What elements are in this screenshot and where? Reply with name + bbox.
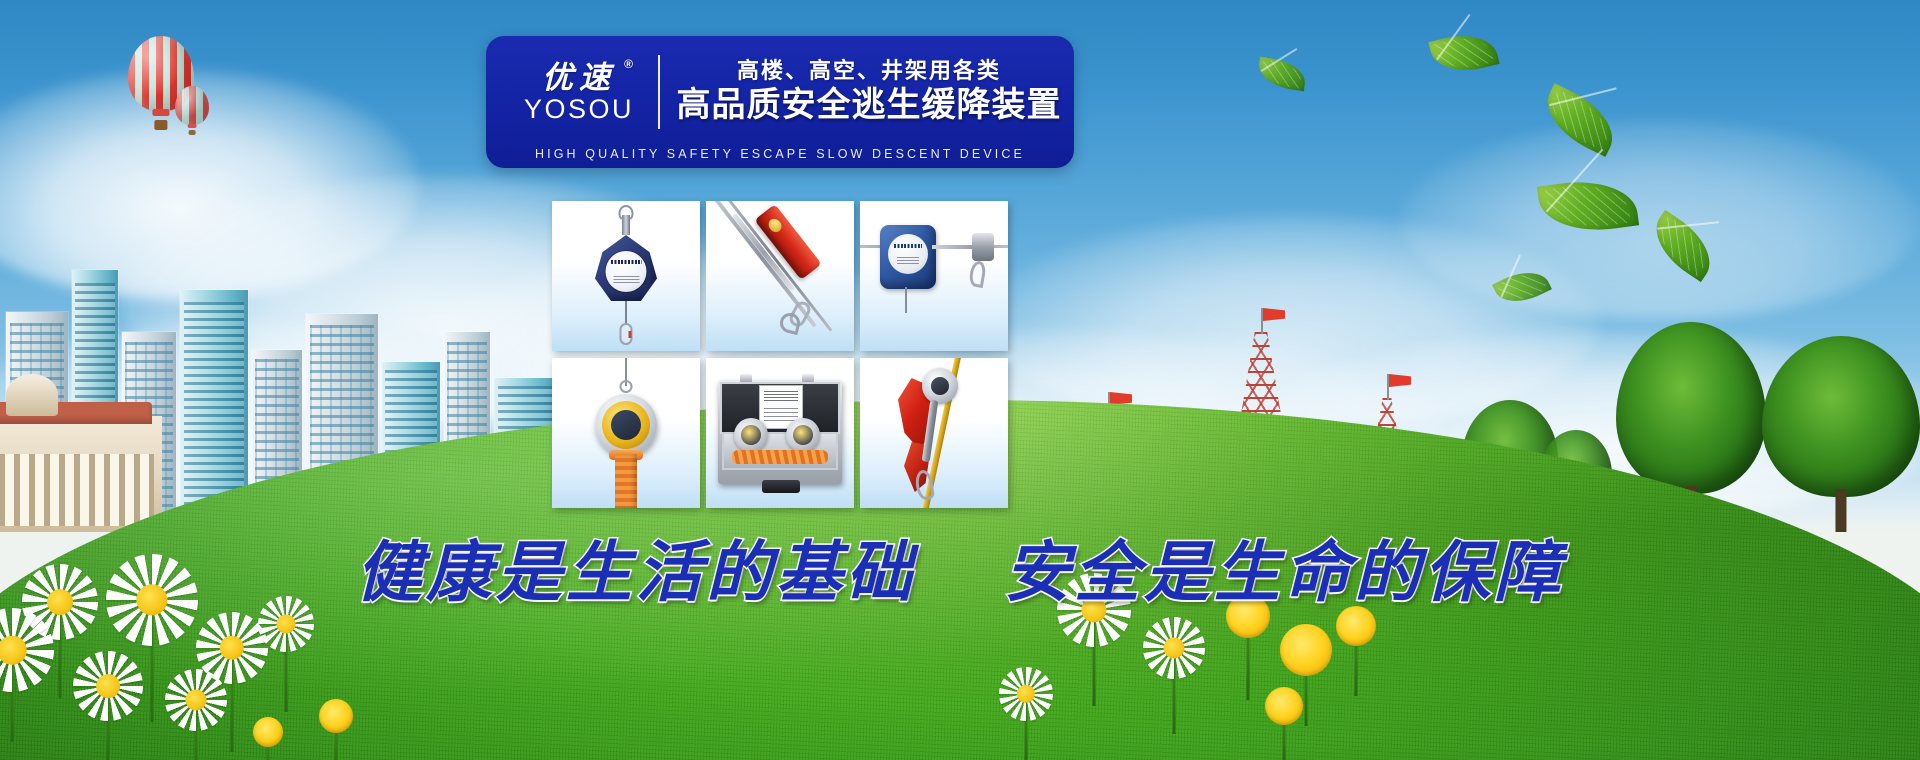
classical-building <box>0 416 162 532</box>
product-tile-blue-horizontal-line-fall-arrester[interactable] <box>860 201 1008 351</box>
balloon-basket <box>189 130 196 136</box>
balloon-neck <box>188 124 197 128</box>
brand-logo[interactable]: 优速 ® YOSOU <box>486 62 658 123</box>
product-tile-round-descender-with-orange-sling[interactable] <box>552 358 700 508</box>
bottom-slogan: 健康是生活的基础 安全是生命的保障 <box>0 540 1920 606</box>
leaf-icon <box>1492 262 1552 312</box>
leaf-icon <box>1256 57 1307 91</box>
header-panel: 优速 ® YOSOU 高楼、高空、井架用各类 高品质安全逃生缓降装置 HIGH … <box>486 36 1074 168</box>
header-title-line1: 高楼、高空、井架用各类 <box>737 58 1001 83</box>
product-tile-aluminium-case-escape-device-kit[interactable] <box>706 358 854 508</box>
balloon-envelope <box>175 86 209 125</box>
header-title-line2: 高品质安全逃生缓降装置 <box>677 85 1062 126</box>
product-image-grid <box>552 201 1008 508</box>
brand-logo-en: YOSOU <box>524 96 634 123</box>
product-tile-red-rope-grab-descender[interactable] <box>860 358 1008 508</box>
building-dome <box>6 374 58 416</box>
hot-air-balloon-icon <box>175 86 209 136</box>
product-tile-blue-fall-arrester-with-carabiner[interactable] <box>552 201 700 351</box>
product-photo <box>860 358 1008 508</box>
tree <box>1762 336 1920 532</box>
slogan-part-1: 健康是生活的基础 <box>356 534 916 611</box>
brand-logo-cn-text: 优速 <box>542 60 616 95</box>
leaf-icon <box>1643 210 1723 282</box>
leaf-icon <box>1537 174 1639 239</box>
product-photo <box>706 358 854 508</box>
product-photo <box>706 201 854 351</box>
header-top-row: 优速 ® YOSOU 高楼、高空、井架用各类 高品质安全逃生缓降装置 <box>486 36 1074 144</box>
balloon-basket <box>154 120 167 131</box>
product-photo <box>860 201 1008 351</box>
flag-icon <box>1261 308 1263 334</box>
header-subtitle-en: HIGH QUALITY SAFETY ESCAPE SLOW DESCENT … <box>486 144 1074 168</box>
flag-icon <box>1387 374 1389 400</box>
leaf-icon <box>1535 83 1624 157</box>
registered-trademark-icon: ® <box>624 58 633 70</box>
balloon-neck <box>152 109 169 116</box>
vertical-divider <box>658 55 660 129</box>
header-title-block: 高楼、高空、井架用各类 高品质安全逃生缓降装置 <box>662 58 1074 126</box>
product-tile-red-wire-rope-clamp-tensioner[interactable] <box>706 201 854 351</box>
promo-banner: 优速 ® YOSOU 高楼、高空、井架用各类 高品质安全逃生缓降装置 HIGH … <box>0 0 1920 760</box>
brand-logo-cn: 优速 ® <box>542 62 616 93</box>
building-columns <box>0 454 154 526</box>
slogan-part-2: 安全是生命的保障 <box>1004 534 1564 611</box>
product-photo <box>552 201 700 351</box>
product-photo <box>552 358 700 508</box>
leaf-icon <box>1428 27 1499 79</box>
